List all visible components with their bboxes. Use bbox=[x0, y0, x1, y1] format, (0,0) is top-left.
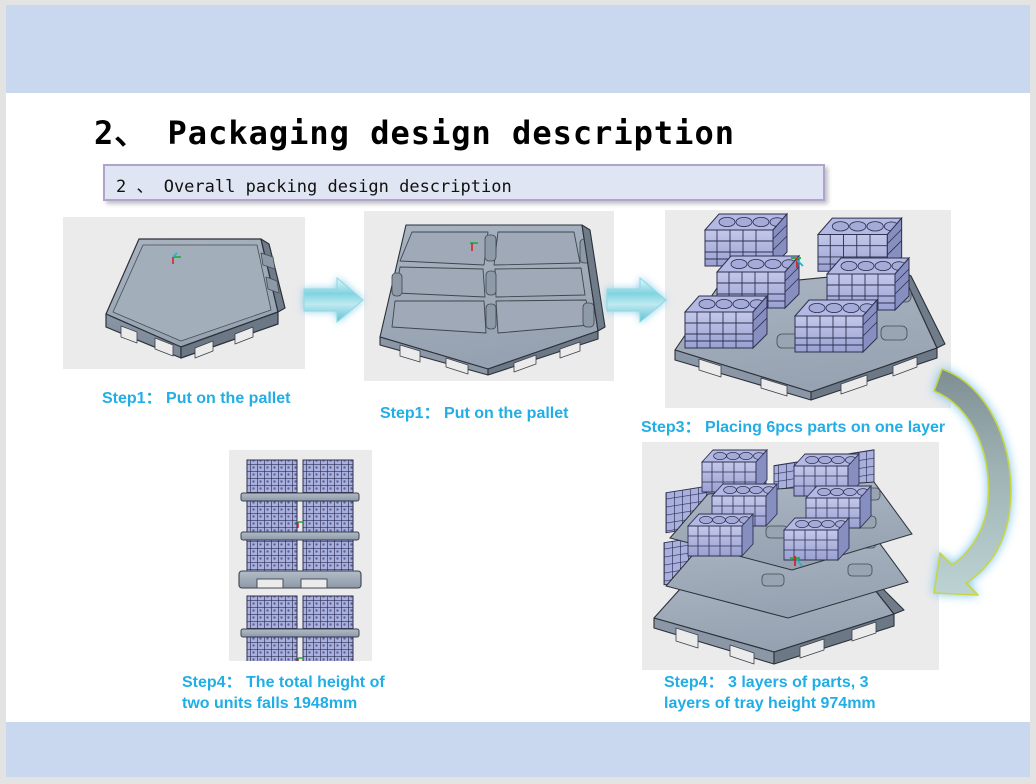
subtitle-box: 2 、 Overall packing design description bbox=[103, 164, 825, 201]
figure-stack-iso-render bbox=[642, 442, 939, 670]
figure-stack-front-render bbox=[229, 450, 372, 661]
caption-step1-tray: Step1： Put on the pallet bbox=[380, 403, 568, 424]
caption-step4-total-height: Step4： The total height of two units fal… bbox=[182, 672, 385, 714]
figure-loaded-tray-render bbox=[665, 210, 951, 408]
subtitle-text: 2 、 Overall packing design description bbox=[116, 172, 512, 197]
figure-tray-render bbox=[364, 211, 614, 381]
arrow-right-1-icon bbox=[303, 275, 365, 325]
arrow-curved-down-icon bbox=[926, 357, 1026, 607]
caption-step3-parts: Step3： Placing 6pcs parts on one layer bbox=[641, 417, 945, 438]
caption-step1-pallet: Step1： Put on the pallet bbox=[102, 388, 290, 409]
caption-step4-layers: Step4： 3 layers of parts, 3 layers of tr… bbox=[664, 672, 876, 714]
figure-pallet-render bbox=[63, 217, 305, 369]
slide-canvas: 2、 Packaging design description 2 、 Over… bbox=[6, 5, 1030, 777]
bottom-banner-band bbox=[6, 722, 1030, 777]
page-title: 2、 Packaging design description bbox=[94, 108, 735, 154]
top-banner-band bbox=[6, 5, 1030, 93]
arrow-right-2-icon bbox=[606, 275, 668, 325]
